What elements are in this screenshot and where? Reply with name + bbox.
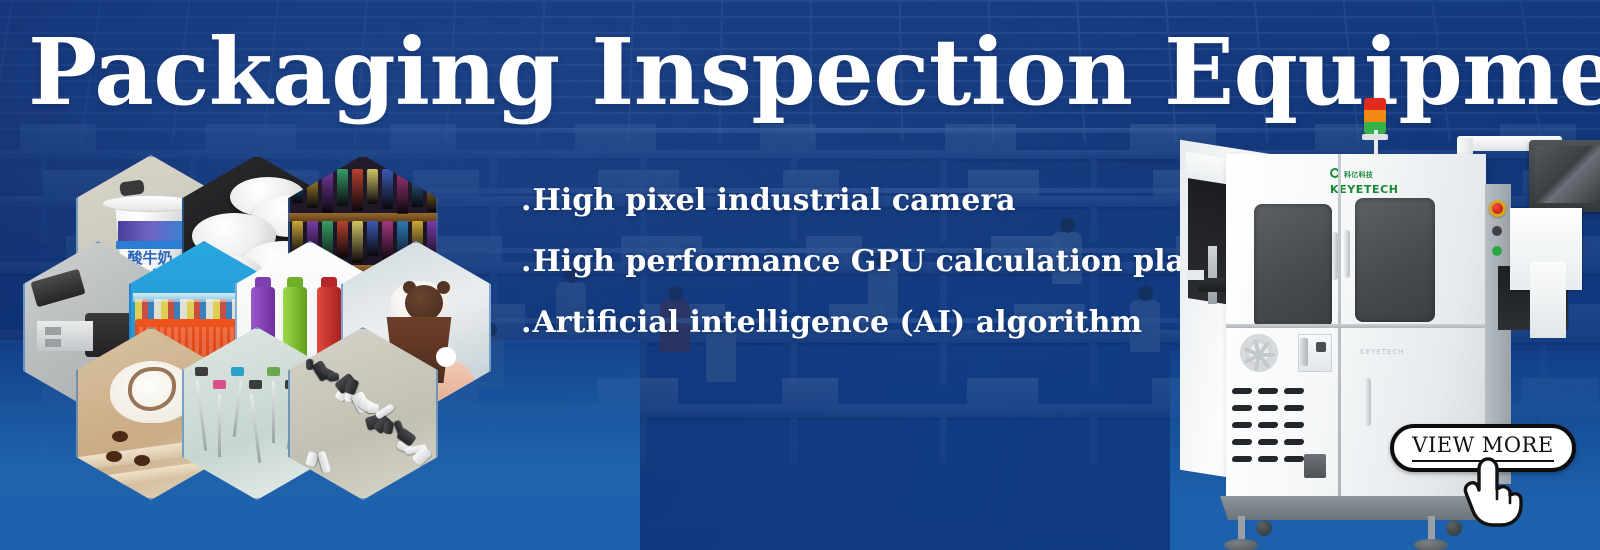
leveling-foot-right (1414, 539, 1448, 550)
vent-slot (1258, 405, 1279, 411)
caster-right (1446, 520, 1462, 536)
inspection-window-left (1254, 204, 1332, 328)
feature-text-3: Artificial intelligence (AI) algorithm (532, 305, 1142, 340)
caster-left (1256, 520, 1272, 536)
machine-brand-logo: 科亿科技 KEYETECH (1330, 164, 1410, 196)
stack-light-segment-2 (1364, 110, 1386, 122)
brand-name-en: KEYETECH (1330, 183, 1410, 196)
vent-slot (1284, 405, 1305, 411)
feature-text-2: High performance GPU calculation platfor… (532, 244, 1279, 279)
vent-slot (1232, 405, 1253, 411)
leveling-foot-left (1224, 539, 1258, 550)
feature-item-3: .Artificial intelligence (AI) algorithm (521, 308, 1221, 338)
bullet-dot-icon: . (521, 305, 531, 340)
cooling-fan-grille-icon (1240, 334, 1278, 372)
vent-slot (1232, 422, 1253, 428)
cabinet-lock-knob[interactable] (1316, 342, 1326, 352)
cabinet-sub-label: KEYETECH (1360, 348, 1405, 356)
vent-slot (1284, 439, 1305, 445)
feature-text-1: High pixel industrial camera (532, 183, 1015, 218)
lower-connector-box (1304, 454, 1326, 478)
hmi-monitor-screen (1535, 146, 1600, 203)
inspection-window-right (1355, 198, 1435, 322)
product-collage: 酸牛奶 饮品 (0, 155, 518, 550)
vent-slot (1284, 422, 1305, 428)
indicator-light-1 (1492, 226, 1502, 236)
brand-name-cn: 科亿科技 (1344, 171, 1373, 179)
stack-light-icon (1364, 98, 1386, 134)
pointing-hand-cursor-icon (1463, 443, 1525, 527)
door-handle-lower[interactable] (1365, 378, 1371, 426)
vent-slot (1232, 388, 1253, 394)
vent-slot (1258, 439, 1279, 445)
vent-slot (1284, 388, 1305, 394)
infeed-post-left (1208, 246, 1217, 304)
vent-slot (1232, 439, 1253, 445)
outfeed-chute-lower (1530, 262, 1566, 338)
infeed-tip (1186, 270, 1204, 280)
indicator-light-2 (1492, 246, 1502, 256)
door-handle-right[interactable] (1344, 230, 1350, 278)
bullet-dot-icon: . (521, 183, 531, 218)
bullet-dot-icon: . (521, 244, 531, 279)
stack-light-segment-1 (1364, 98, 1386, 110)
door-hinge (1300, 338, 1308, 366)
stack-light-base (1362, 134, 1388, 140)
machine-base (1220, 496, 1492, 520)
feature-item-2: .High performance GPU calculation platfo… (521, 247, 1221, 277)
promo-banner: Packaging Inspection Equipment .High pix… (0, 0, 1600, 550)
feature-item-1: .High pixel industrial camera (521, 186, 1221, 216)
cabinet-divider-horizontal (1226, 324, 1486, 328)
vent-slot (1284, 456, 1305, 462)
feature-list: .High pixel industrial camera .High perf… (521, 186, 1221, 369)
emergency-stop-button[interactable] (1492, 203, 1503, 214)
vent-slot (1258, 422, 1279, 428)
vent-slot (1258, 456, 1279, 462)
vent-slot (1232, 456, 1253, 462)
vent-slot (1258, 388, 1279, 394)
